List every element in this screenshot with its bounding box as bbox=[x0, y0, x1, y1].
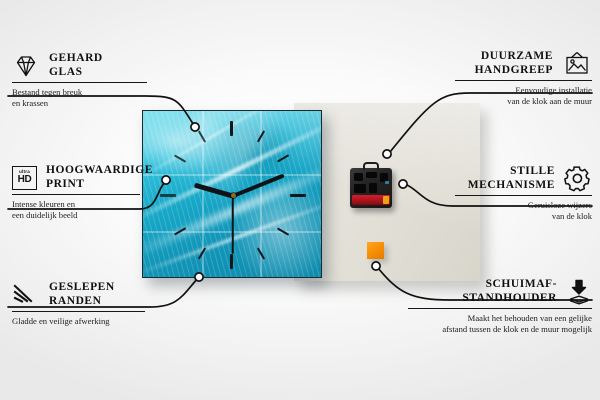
feature-gehard-glas[interactable]: GEHARD GLAS Bestand tegen breuk en krass… bbox=[12, 52, 147, 108]
feature-heading: GEHARD GLAS bbox=[12, 52, 147, 79]
feature-title: STILLE MECHANISME bbox=[468, 165, 555, 192]
feature-hoogwaardige-print[interactable]: ultra HD HOOGWAARDIGE PRINT Intense kleu… bbox=[12, 164, 140, 220]
feature-desc: Intense kleuren en een duidelijk beeld bbox=[12, 199, 140, 220]
feature-rule bbox=[455, 80, 592, 81]
feature-heading: DUURZAME HANDGREEP bbox=[455, 50, 592, 77]
feature-desc: Eenvoudige installatie van de klok aan d… bbox=[455, 85, 592, 106]
feature-heading: GESLEPEN RANDEN bbox=[12, 281, 145, 308]
press-down-icon bbox=[566, 279, 592, 305]
feature-rule bbox=[455, 195, 592, 196]
diamond-icon bbox=[12, 54, 40, 78]
feature-rule bbox=[12, 82, 147, 83]
infographic-canvas: GEHARD GLAS Bestand tegen breuk en krass… bbox=[0, 0, 600, 400]
picture-frame-icon bbox=[562, 51, 592, 77]
ultra-hd-icon: ultra HD bbox=[12, 166, 37, 190]
beveled-edges-icon bbox=[12, 284, 40, 306]
feature-title: DUURZAME HANDGREEP bbox=[475, 50, 553, 77]
callout-dot-duurzame-handgreep bbox=[383, 150, 391, 158]
feature-title: GEHARD GLAS bbox=[49, 52, 103, 79]
gear-icon bbox=[564, 165, 592, 192]
feature-title: HOOGWAARDIGE PRINT bbox=[46, 164, 153, 191]
ultra-hd-icon-large-text: HD bbox=[18, 175, 32, 185]
feature-rule bbox=[12, 194, 140, 195]
feature-heading: SCHUIMAF- STANDHOUDER bbox=[408, 278, 592, 305]
feature-desc: Geruisloze wijzers van de klok bbox=[455, 200, 592, 221]
feature-duurzame-handgreep[interactable]: DUURZAME HANDGREEP Eenvoudige installati… bbox=[455, 50, 592, 106]
feature-heading: ultra HD HOOGWAARDIGE PRINT bbox=[12, 164, 140, 191]
callout-dot-gehard-glas bbox=[191, 123, 199, 131]
feature-title: SCHUIMAF- STANDHOUDER bbox=[462, 278, 557, 305]
feature-stille-mechanisme[interactable]: STILLE MECHANISME Geruisloze wijzers van… bbox=[455, 165, 592, 221]
feature-desc: Bestand tegen breuk en krassen bbox=[12, 87, 147, 108]
feature-rule bbox=[408, 308, 592, 309]
feature-heading: STILLE MECHANISME bbox=[455, 165, 592, 192]
feature-title: GESLEPEN RANDEN bbox=[49, 281, 115, 308]
feature-rule bbox=[12, 311, 145, 312]
feature-schuimafstandhouder[interactable]: SCHUIMAF- STANDHOUDER Maakt het behouden… bbox=[408, 278, 592, 334]
callout-dot-geslepen-randen bbox=[195, 273, 203, 281]
callout-dot-stille-mechanisme bbox=[399, 180, 407, 188]
feature-desc: Maakt het behouden van een gelijke afsta… bbox=[408, 313, 592, 334]
feature-desc: Gladde en veilige afwerking bbox=[12, 316, 145, 327]
feature-geslepen-randen[interactable]: GESLEPEN RANDEN Gladde en veilige afwerk… bbox=[12, 281, 145, 327]
callout-dot-hoogwaardige-print bbox=[162, 176, 170, 184]
callout-dot-schuimafstandhouder bbox=[372, 262, 380, 270]
